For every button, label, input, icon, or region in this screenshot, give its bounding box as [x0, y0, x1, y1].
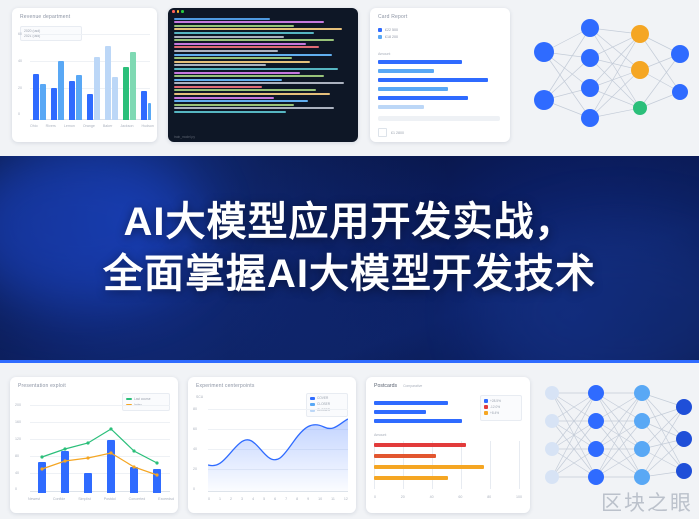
banner: AI大模型应用开发实战， 全面掌握AI大模型开发技术 — [0, 156, 699, 363]
legend-swatch-2 — [484, 405, 488, 409]
combo-chart-title: Presentation exploit — [18, 383, 178, 389]
hbar-section-label: Amount — [378, 52, 390, 56]
top-card-strip: Revenue department 2020 (usd) 2021 (usd)… — [0, 0, 699, 156]
close-icon[interactable] — [172, 10, 175, 13]
ytick-0: 0 — [18, 112, 20, 116]
ytick-20: 20 — [193, 467, 197, 471]
area-chart-title: Experiment centerpoints — [196, 383, 356, 389]
stat-label-2: £18 200 — [385, 35, 398, 39]
stat-dot-2 — [378, 35, 382, 39]
hbar-track — [378, 116, 500, 121]
combo-yaxis: 200 160 120 80 40 0 — [15, 403, 27, 491]
xtick-1: Rivers — [46, 124, 56, 128]
xtick-8: 8 — [296, 497, 298, 501]
ytick-0: 0 — [15, 487, 17, 491]
xtick-80: 80 — [487, 495, 491, 499]
xtick-6: Hudson — [142, 124, 154, 128]
neural-network-diagram — [520, 8, 690, 142]
code-editor-card[interactable]: train_model.py — [168, 8, 358, 142]
maximize-icon[interactable] — [181, 10, 184, 13]
xtick-7: 7 — [285, 497, 287, 501]
xtick-5: Jackson — [120, 124, 133, 128]
banner-line-1: AI大模型应用开发实战， — [0, 196, 699, 248]
legend-swatch-1 — [310, 397, 315, 400]
xtick-3: Orange — [83, 124, 95, 128]
ytick-40: 40 — [15, 471, 19, 475]
xtick-20: 20 — [401, 495, 405, 499]
banner-line-2: 全面掌握AI大模型开发技术 — [0, 248, 699, 300]
ytick-60: 60 — [18, 32, 22, 36]
hbar-stats: £22 500 £18 200 — [378, 28, 398, 39]
bar-chart-plot — [30, 34, 150, 120]
banner-text: AI大模型应用开发实战， 全面掌握AI大模型开发技术 — [0, 196, 699, 300]
area-yaxis: 80 60 40 20 0 — [193, 407, 205, 491]
ranked-card-title: Postcards — [374, 383, 397, 389]
xtick-60: 60 — [458, 495, 462, 499]
xtick-11: 11 — [331, 497, 335, 501]
legend-swatch-1 — [126, 398, 132, 400]
ytick-200: 200 — [15, 403, 21, 407]
combo-chart-card[interactable]: Presentation exploit Last course Index 2… — [10, 377, 178, 513]
ytick-20: 20 — [18, 86, 22, 90]
code-editor-body[interactable]: train_model.py — [168, 16, 358, 142]
legend-swatch-3 — [484, 411, 488, 415]
legend-text-1: Last course — [134, 397, 150, 401]
area-ylabel: SCU — [196, 395, 203, 399]
stat-dot-1 — [378, 28, 382, 32]
xtick-1: Confide — [53, 497, 65, 501]
ytick-40: 40 — [18, 59, 22, 63]
xtick-9: 9 — [307, 497, 309, 501]
hbar-footer: £1 2800 — [378, 128, 404, 137]
xtick-10: 10 — [318, 497, 322, 501]
bar-chart-yaxis: 60 40 20 0 — [18, 32, 28, 118]
bar-chart-card[interactable]: Revenue department 2020 (usd) 2021 (usd)… — [12, 8, 157, 142]
xtick-0: Newest — [28, 497, 40, 501]
xtick-2: 2 — [230, 497, 232, 501]
xtick-2: Simplist — [78, 497, 91, 501]
page-root: Revenue department 2020 (usd) 2021 (usd)… — [0, 0, 699, 519]
ranked-top-bars — [374, 401, 470, 425]
neural-network-card[interactable] — [520, 8, 690, 142]
xtick-4: Concerted — [129, 497, 146, 501]
code-filename: train_model.py — [174, 135, 195, 139]
xtick-0: 0 — [374, 495, 376, 499]
ranked-plot — [374, 441, 520, 489]
xtick-0: 0 — [208, 497, 210, 501]
minimize-icon[interactable] — [177, 10, 180, 13]
ranked-xaxis: 0 20 40 60 80 100 — [374, 495, 522, 499]
xtick-40: 40 — [430, 495, 434, 499]
xtick-0: Ohio — [30, 124, 38, 128]
area-plot — [208, 409, 348, 493]
xtick-4: Baker — [103, 124, 112, 128]
legend-text-1: +28.5% — [490, 399, 501, 403]
hbar-plot — [378, 60, 502, 122]
xtick-1: 1 — [219, 497, 221, 501]
stat-label-1: £22 500 — [385, 28, 398, 32]
ranked-section-label: Amount — [374, 433, 386, 437]
legend-swatch-1 — [484, 399, 488, 403]
bar-chart-title: Revenue department — [20, 14, 157, 20]
xtick-3: Postdol — [104, 497, 116, 501]
ytick-80: 80 — [15, 454, 19, 458]
combo-xaxis: Newest Confide Simplist Postdol Concerte… — [28, 497, 174, 501]
bottom-card-strip: Presentation exploit Last course Index 2… — [0, 363, 699, 519]
ytick-120: 120 — [15, 437, 21, 441]
ranked-card-subtitle: Comparative — [403, 384, 422, 388]
xtick-6: 6 — [274, 497, 276, 501]
legend-label-1: 2020 (usd) — [24, 29, 81, 33]
legend-swatch-2 — [310, 403, 315, 406]
neural-network-diagram-2 — [536, 377, 696, 497]
combo-lines — [30, 405, 170, 493]
area-chart-card[interactable]: Experiment centerpoints SCU COVER CLOSER… — [188, 377, 356, 513]
bar-chart-xaxis: Ohio Rivers Lemon Orange Baker Jackson H… — [30, 124, 154, 128]
ranked-legend-box: +28.5% -12.0% +8.4% — [480, 395, 522, 421]
xtick-5: 5 — [263, 497, 265, 501]
area-curve — [208, 409, 348, 493]
legend-text-3: +8.4% — [490, 411, 499, 415]
legend-text-1: COVER — [317, 396, 328, 400]
legend-text-2: CLOSER — [317, 402, 330, 406]
code-editor-titlebar — [168, 8, 358, 15]
xtick-3: 3 — [241, 497, 243, 501]
ytick-0: 0 — [193, 487, 195, 491]
xtick-100: 100 — [516, 495, 522, 499]
xtick-12: 12 — [344, 497, 348, 501]
watermark: 区块之眼 — [601, 487, 693, 517]
ytick-80: 80 — [193, 407, 197, 411]
checkbox-icon[interactable] — [378, 128, 387, 137]
ytick-160: 160 — [15, 420, 21, 424]
xtick-4: 4 — [252, 497, 254, 501]
xtick-2: Lemon — [64, 124, 75, 128]
ytick-60: 60 — [193, 427, 197, 431]
hbar-footer-label: £1 2800 — [391, 131, 404, 135]
legend-text-2: -12.0% — [490, 405, 500, 409]
hbar-card-title: Card Report — [378, 14, 510, 20]
ytick-40: 40 — [193, 447, 197, 451]
combo-plot — [30, 405, 170, 493]
horizontal-bar-card[interactable]: Card Report £22 500 £18 200 Amount — [370, 8, 510, 142]
xtick-5: Exceedsd — [158, 497, 174, 501]
neural-network-card-2[interactable] — [536, 377, 696, 497]
ranked-bar-card[interactable]: Postcards Comparative +28.5% -12.0% +8.4… — [366, 377, 530, 513]
area-xaxis: 0 1 2 3 4 5 6 7 8 9 10 11 12 — [208, 497, 348, 501]
